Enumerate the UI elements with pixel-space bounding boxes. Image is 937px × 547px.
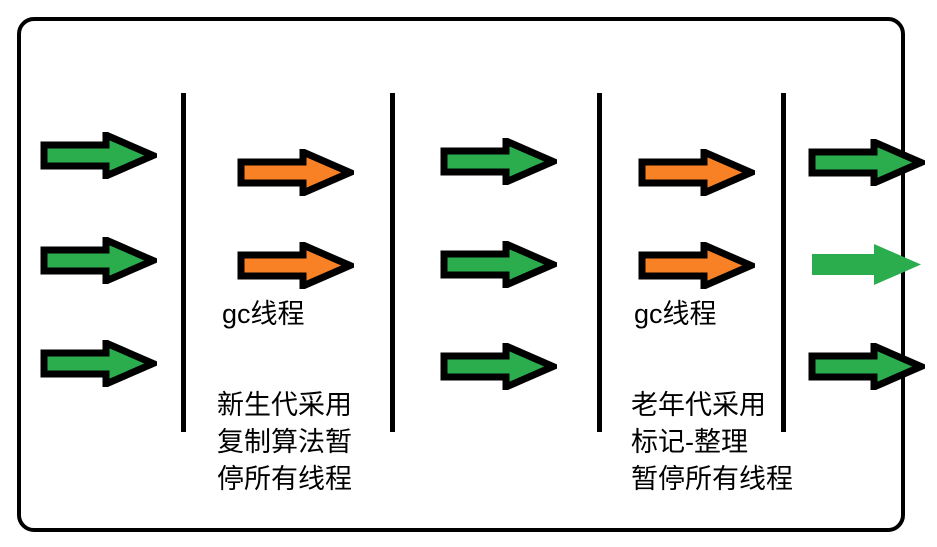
arrow-orange-1 xyxy=(237,149,354,196)
arrow-green-7 xyxy=(808,139,925,186)
gc-thread-label-young: gc线程 xyxy=(222,301,305,328)
arrow-orange-3 xyxy=(638,149,755,196)
old-gen-line-2: 标记-整理 xyxy=(631,429,748,456)
arrow-orange-2 xyxy=(237,242,354,289)
gc-thread-label-old: gc线程 xyxy=(634,301,717,328)
divider-2 xyxy=(390,93,395,432)
young-gen-line-1: 新生代采用 xyxy=(217,392,352,419)
divider-1 xyxy=(181,93,186,432)
arrow-green-6 xyxy=(440,343,557,390)
arrow-green-9 xyxy=(808,343,925,390)
arrow-orange-4 xyxy=(638,242,755,289)
divider-3 xyxy=(597,93,602,432)
old-gen-line-1: 老年代采用 xyxy=(631,392,766,419)
arrow-green-2 xyxy=(40,237,157,284)
diagram-canvas: gc线程新生代采用复制算法暂停所有线程gc线程老年代采用标记-整理暂停所有线程 xyxy=(0,0,937,547)
arrow-green-4 xyxy=(440,138,557,185)
arrow-green-5 xyxy=(440,241,557,288)
arrow-green-1 xyxy=(40,132,157,179)
young-gen-line-3: 停所有线程 xyxy=(217,466,352,493)
young-gen-line-2: 复制算法暂 xyxy=(217,429,352,456)
arrow-green-8 xyxy=(808,241,925,288)
old-gen-line-3: 暂停所有线程 xyxy=(631,466,793,493)
divider-4 xyxy=(781,93,786,432)
arrow-green-3 xyxy=(40,340,157,387)
